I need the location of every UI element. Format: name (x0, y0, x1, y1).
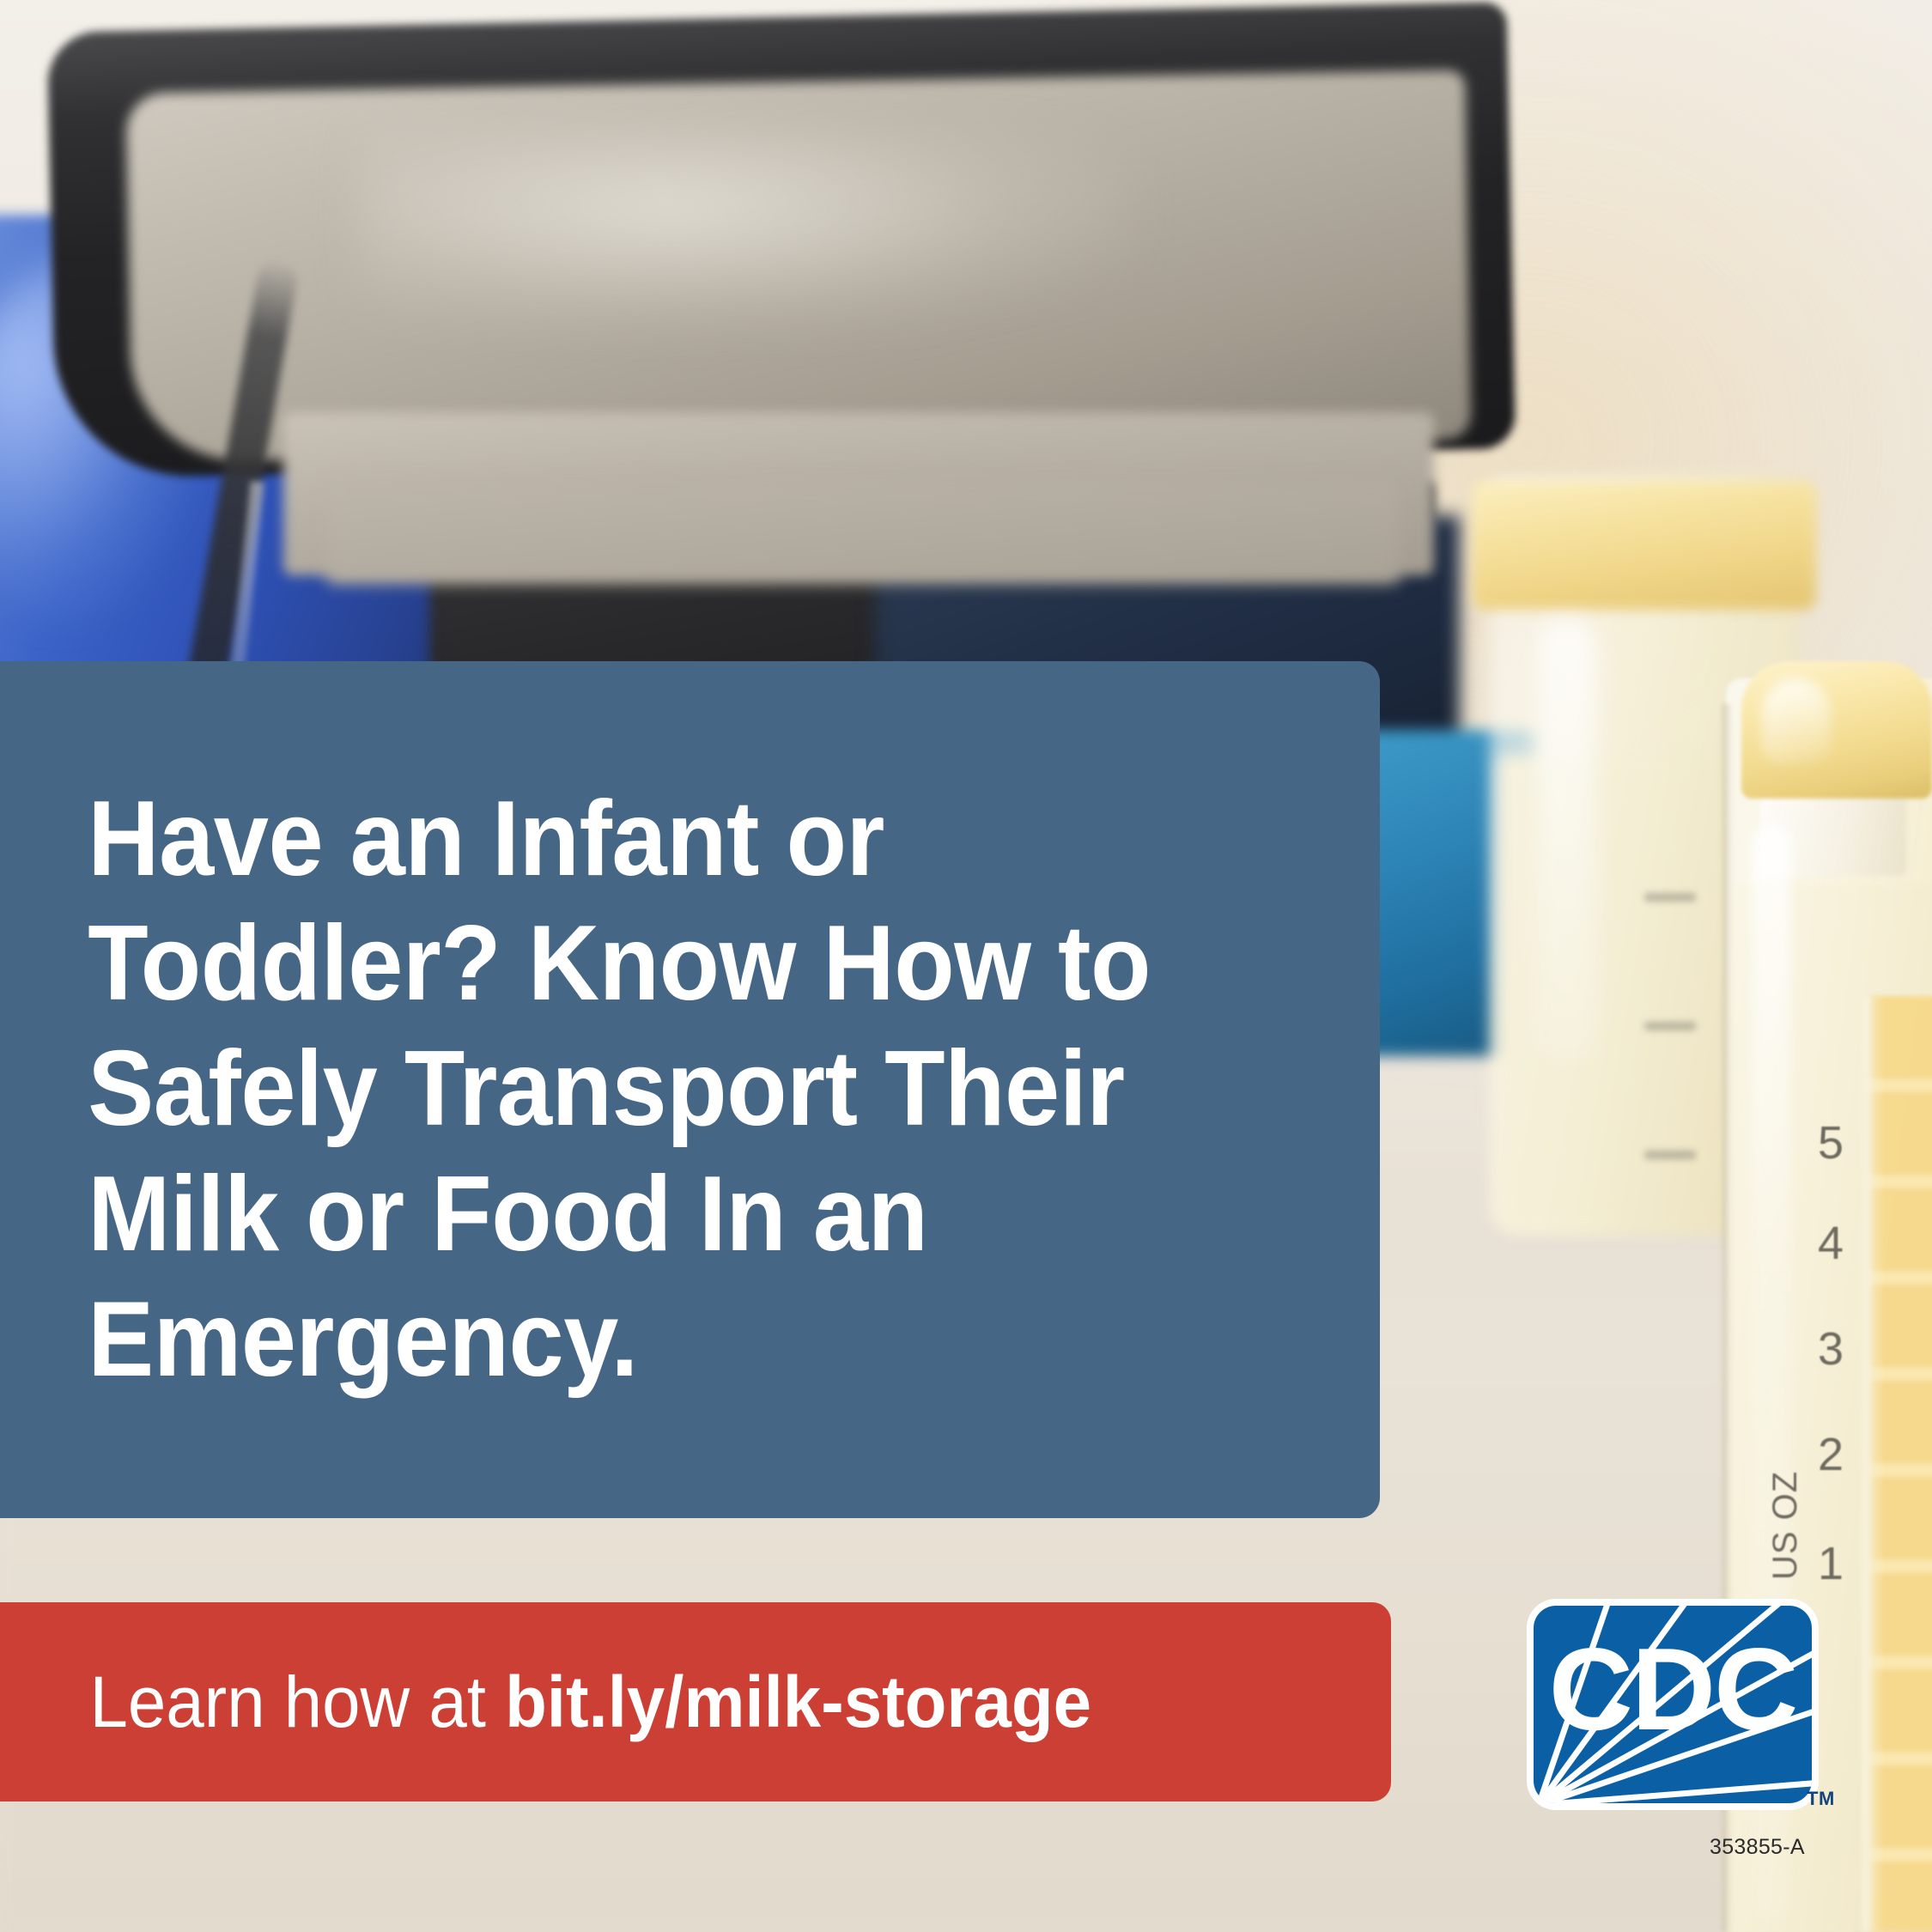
milk-bottle-foreground-cap-highlight (1762, 678, 1831, 764)
cooler-bag-lining-band-lower (326, 481, 1400, 584)
cta-banner[interactable]: Learn how at bit.ly/milk-storage (0, 1602, 1391, 1801)
cta-url[interactable]: bit.ly/milk-storage (505, 1662, 1091, 1742)
cta-text: Learn how at bit.ly/milk-storage (0, 1661, 1091, 1744)
poster-canvas: 5 4 3 2 1 US OZ Have an Infant or Toddle… (0, 0, 1932, 1932)
milk-bottle-background-tick (1644, 893, 1696, 902)
milk-bottle-background-tick (1644, 1151, 1696, 1159)
bottle-graduation-2: 2 (1818, 1428, 1844, 1481)
cooler-bag-lining-sheen (361, 129, 1133, 326)
headline-panel: Have an Infant or Toddler? Know How to S… (0, 661, 1380, 1518)
page-title: Have an Infant or Toddler? Know How to S… (0, 777, 1284, 1402)
cdc-logo[interactable]: CDC (1527, 1599, 1819, 1810)
milk-bottle-background-cap (1473, 481, 1816, 610)
bottle-graduation-3: 3 (1818, 1322, 1844, 1376)
cta-prefix: Learn how at (90, 1662, 506, 1742)
milk-bottle-background-shine (1537, 618, 1597, 1065)
trademark-symbol: TM (1807, 1788, 1835, 1810)
cdc-logo-wordmark: CDC (1549, 1624, 1797, 1754)
milk-bottle-background-tick (1644, 1022, 1696, 1030)
bottle-unit-label: US OZ (1769, 1471, 1801, 1580)
bottle-graduation-1: 1 (1818, 1537, 1844, 1590)
milk-bottle-wave-fade (1862, 996, 1884, 1932)
document-id: 353855-A (1710, 1835, 1805, 1860)
bottle-graduation-4: 4 (1818, 1217, 1844, 1270)
bottle-graduation-5: 5 (1818, 1116, 1844, 1170)
